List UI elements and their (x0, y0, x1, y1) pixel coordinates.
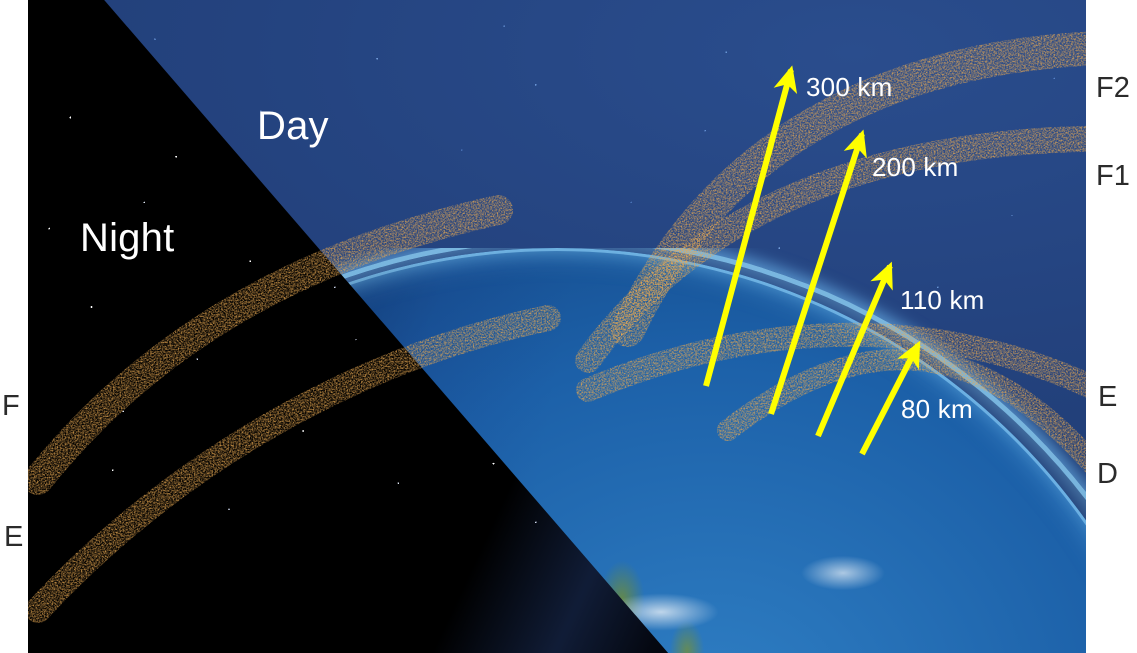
ionosphere-diagram: DayNight300 km200 km110 km80 km F2F1ED F… (0, 0, 1137, 653)
arrow-300km-label: 300 km (806, 72, 892, 103)
arrow-110km-label: 110 km (900, 285, 985, 316)
scene-label-day: Day (257, 104, 329, 149)
arrow-80km-label: 80 km (901, 394, 973, 425)
layer-f2: F2 (1096, 72, 1130, 105)
scene-label-night: Night (80, 216, 174, 261)
layer-f-night: F (2, 390, 20, 423)
arrow-200km-label: 200 km (872, 152, 958, 183)
scene-plate: DayNight300 km200 km110 km80 km (28, 0, 1086, 653)
layer-e-night: E (4, 521, 23, 554)
layer-d: D (1097, 458, 1118, 491)
arrow-300km (706, 70, 791, 386)
layer-e: E (1098, 381, 1117, 414)
layer-f1: F1 (1096, 160, 1130, 193)
altitude-arrow-layer (28, 0, 1086, 653)
arrow-110km (818, 266, 890, 436)
altitude-arrows (706, 70, 918, 454)
